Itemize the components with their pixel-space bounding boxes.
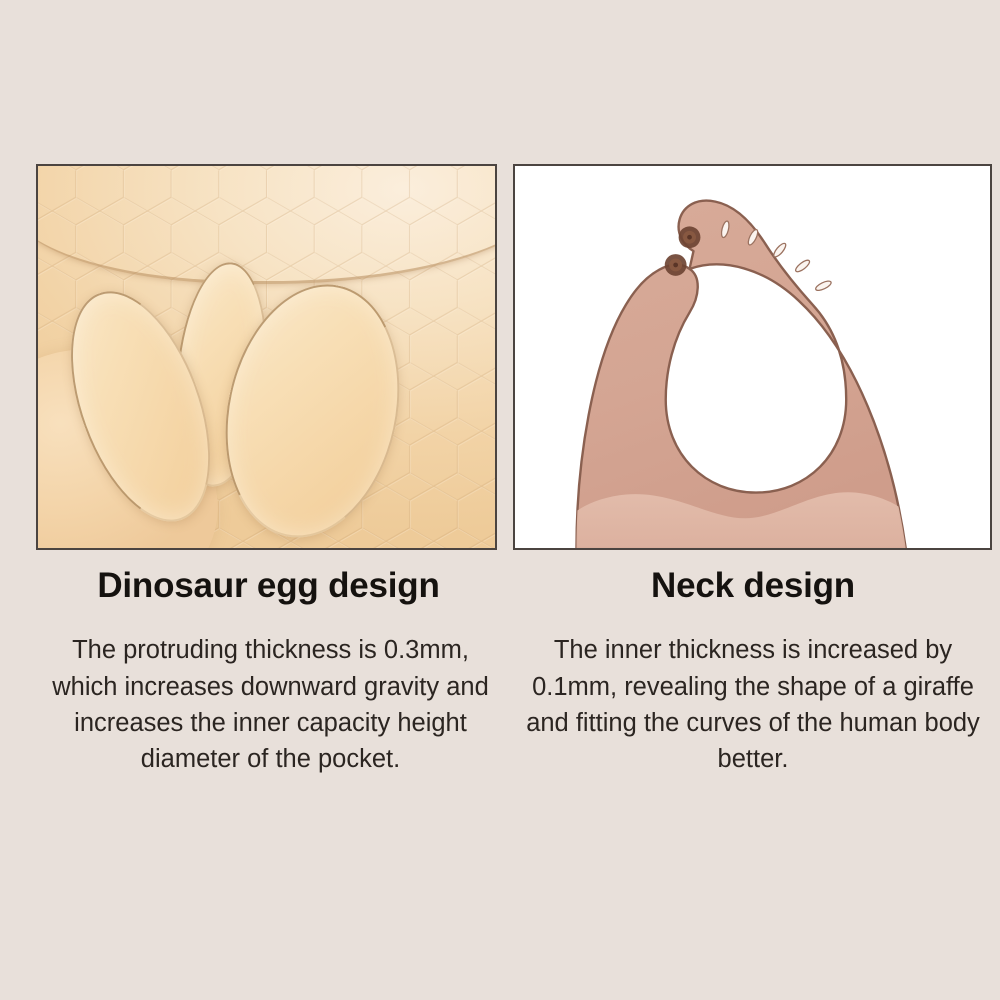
snap-button-1-center: [687, 235, 692, 240]
heading-dinosaur-egg: Dinosaur egg design: [36, 565, 501, 606]
buttonhole-slot-4: [794, 258, 811, 273]
panel-neck-design: [513, 164, 992, 550]
panel-dinosaur-egg: [36, 164, 497, 550]
caption-neck-design: Neck design The inner thickness is incre…: [513, 565, 993, 777]
caption-dinosaur-egg: Dinosaur egg design The protruding thick…: [36, 565, 501, 777]
body-text-dinosaur-egg: The protruding thickness is 0.3mm, which…: [36, 632, 501, 777]
bib-neck-design-photo: [515, 166, 990, 548]
surface-ridge-line: [36, 164, 497, 284]
buttonhole-slot-5: [814, 279, 832, 292]
silicone-bib-illustration: [515, 166, 990, 548]
product-feature-infographic: Dinosaur egg design The protruding thick…: [0, 0, 1000, 1000]
image-panel-row: [0, 164, 1000, 550]
buttonhole-slot-3: [772, 242, 788, 259]
body-text-neck-design: The inner thickness is increased by 0.1m…: [513, 632, 993, 777]
dinosaur-egg-texture-photo: [38, 166, 495, 548]
heading-neck-design: Neck design: [513, 565, 993, 606]
snap-button-2-center: [673, 263, 678, 268]
